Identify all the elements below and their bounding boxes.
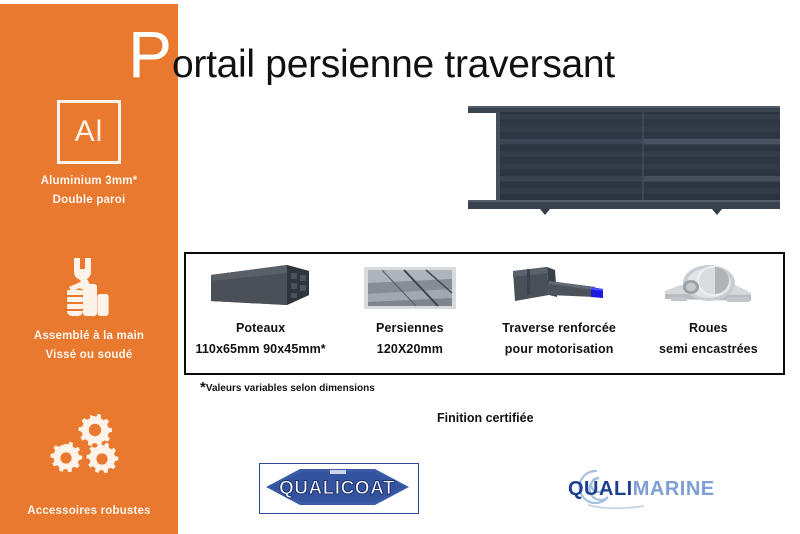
certified-finish-label: Finition certifiée [437,411,534,425]
qualicoat-logo-text: QUALICOAT [279,478,395,499]
component-roues: Roues semi encastrées [634,254,783,373]
footnote-variable-values: *Valeurs variables selon dimensions [200,379,375,396]
qualimarine-logo-text: QUALIMARINE [568,478,715,501]
component-poteaux: Poteaux 110x65mm 90x45mm* [186,254,335,373]
sidebar-item-aluminium-label-1: Aluminium 3mm* [0,172,178,191]
page-title-text: ortail persienne traversant [172,43,615,87]
post-profile-icon [205,258,317,318]
qualicoat-logo: QUALICOAT [259,463,419,514]
sidebar-item-assembly-label-1: Assemblé à la main [0,327,178,346]
qualimarine-text-b: MARINE [633,478,715,500]
component-persiennes-spec: 120X20mm [377,342,443,356]
sidebar-item-accessories: Accessoires robustes [0,414,178,521]
page-title: P ortail persienne traversant [128,24,615,87]
gears-icon [49,414,129,480]
component-persiennes: Persiennes 120X20mm [335,254,484,373]
component-roues-name: Roues [689,321,728,335]
sidebar-item-assembly-label-2: Vissé ou soudé [0,346,178,365]
footnote-text: Valeurs variables selon dimensions [206,383,375,394]
gears-icon-wrap [0,414,178,480]
louver-slat-icon [364,258,456,318]
component-traverse-name: Traverse renforcée [502,321,616,335]
sidebar-item-aluminium-label-2: Double paroi [0,191,178,210]
component-poteaux-spec: 110x65mm 90x45mm* [195,342,325,356]
sidebar-item-assembly: Assemblé à la main Vissé ou soudé [0,256,178,365]
wheel-bearing-icon [657,258,759,318]
component-traverse-spec: pour motorisation [505,342,614,356]
page-title-dropcap: P [128,24,172,84]
wrench-hand-icon-wrap [0,256,178,318]
qualimarine-logo: QUALIMARINE [558,465,728,513]
component-persiennes-name: Persiennes [376,321,444,335]
aluminium-square-icon: Al [57,100,121,164]
component-roues-spec: semi encastrées [659,342,758,356]
sliding-louvered-gate-photo [466,100,784,222]
wrench-hand-icon [57,256,121,318]
component-traverse: Traverse renforcée pour motorisation [485,254,634,373]
sidebar-item-accessories-label-1: Accessoires robustes [0,502,178,521]
components-box: Poteaux 110x65mm 90x45mm* [184,252,785,375]
sidebar-item-aluminium: Al Aluminium 3mm* Double paroi [0,100,178,210]
component-poteaux-name: Poteaux [236,321,285,335]
aluminium-icon-text: Al [75,117,104,147]
poster-root: Al Aluminium 3mm* Double paroi [0,0,800,534]
qualimarine-text-a: QUALI [568,478,633,500]
reinforced-crossbeam-icon [503,258,615,318]
